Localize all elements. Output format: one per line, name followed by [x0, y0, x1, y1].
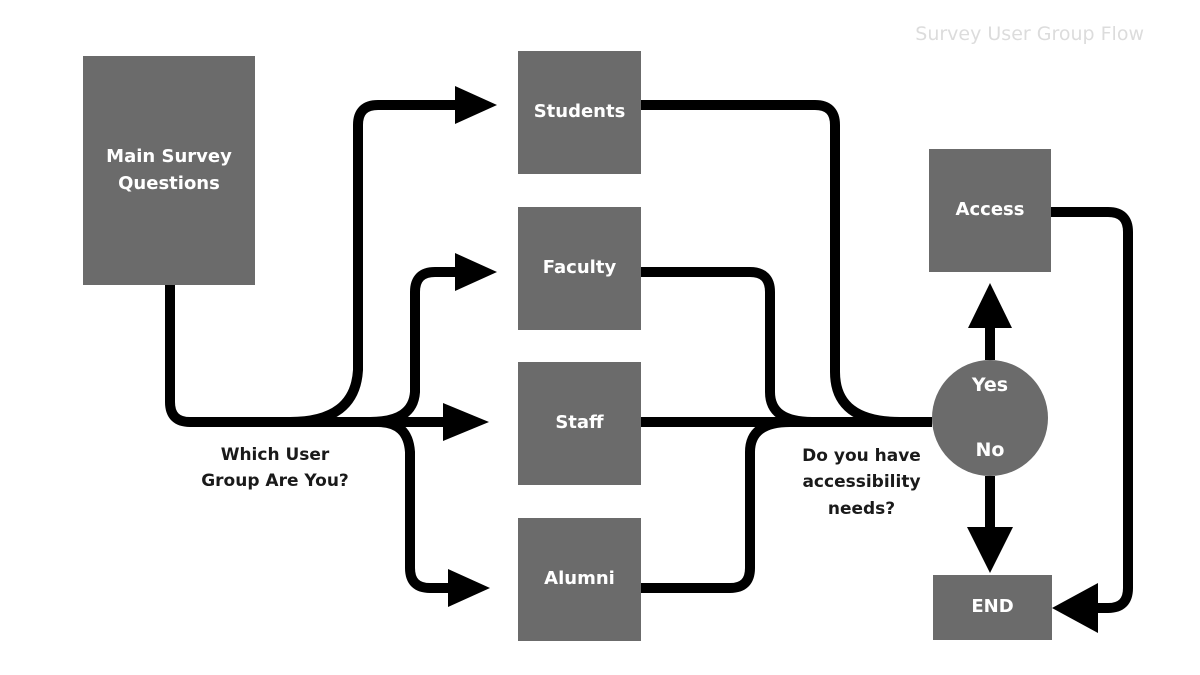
node-access-label: Access [956, 197, 1025, 223]
node-end-label: END [971, 594, 1013, 620]
edge-split-to-faculty [370, 272, 458, 422]
node-end[interactable]: END [933, 575, 1052, 640]
arrow-right-icon [443, 403, 489, 441]
edge-label-accessibility: Do you have accessibility needs? [780, 443, 943, 522]
node-faculty-label: Faculty [543, 255, 616, 281]
page-title: Survey User Group Flow [915, 23, 1144, 45]
decision-option-no[interactable]: No [976, 441, 1005, 460]
node-main-survey[interactable]: Main Survey Questions [83, 56, 255, 285]
node-staff-label: Staff [555, 410, 603, 436]
edge-label-accessibility-line1: Do you have [780, 443, 943, 469]
node-students[interactable]: Students [518, 51, 641, 174]
node-main-survey-label: Main Survey Questions [106, 144, 232, 196]
arrow-right-icon [455, 86, 497, 124]
node-students-label: Students [534, 99, 626, 125]
node-alumni[interactable]: Alumni [518, 518, 641, 641]
edge-faculty-to-decision [641, 272, 812, 422]
decision-option-yes[interactable]: Yes [972, 376, 1008, 395]
arrow-up-icon [968, 283, 1012, 328]
edge-label-user-group-line2: Group Are You? [175, 468, 375, 494]
arrow-down-icon [967, 527, 1013, 573]
node-staff[interactable]: Staff [518, 362, 641, 485]
arrow-left-icon [1052, 583, 1098, 633]
edge-access-to-end [1051, 212, 1128, 608]
arrow-right-icon [448, 569, 490, 607]
edge-split-to-alumni [378, 422, 450, 588]
edge-students-to-decision [641, 105, 932, 422]
arrow-right-icon [455, 253, 497, 291]
edge-label-user-group: Which User Group Are You? [175, 442, 375, 495]
node-access[interactable]: Access [929, 149, 1051, 272]
node-main-survey-line2: Questions [106, 171, 232, 197]
node-alumni-label: Alumni [544, 566, 615, 592]
edge-label-accessibility-line3: needs? [780, 496, 943, 522]
node-decision[interactable]: Yes No [932, 360, 1048, 476]
node-faculty[interactable]: Faculty [518, 207, 641, 330]
edge-alumni-to-decision [641, 422, 790, 588]
edge-label-user-group-line1: Which User [175, 442, 375, 468]
flowchart-canvas: Survey User Group Flow Main Survey Quest… [0, 0, 1200, 675]
node-main-survey-line1: Main Survey [106, 144, 232, 170]
edge-label-accessibility-line2: accessibility [780, 469, 943, 495]
edge-split-to-students [290, 105, 458, 422]
